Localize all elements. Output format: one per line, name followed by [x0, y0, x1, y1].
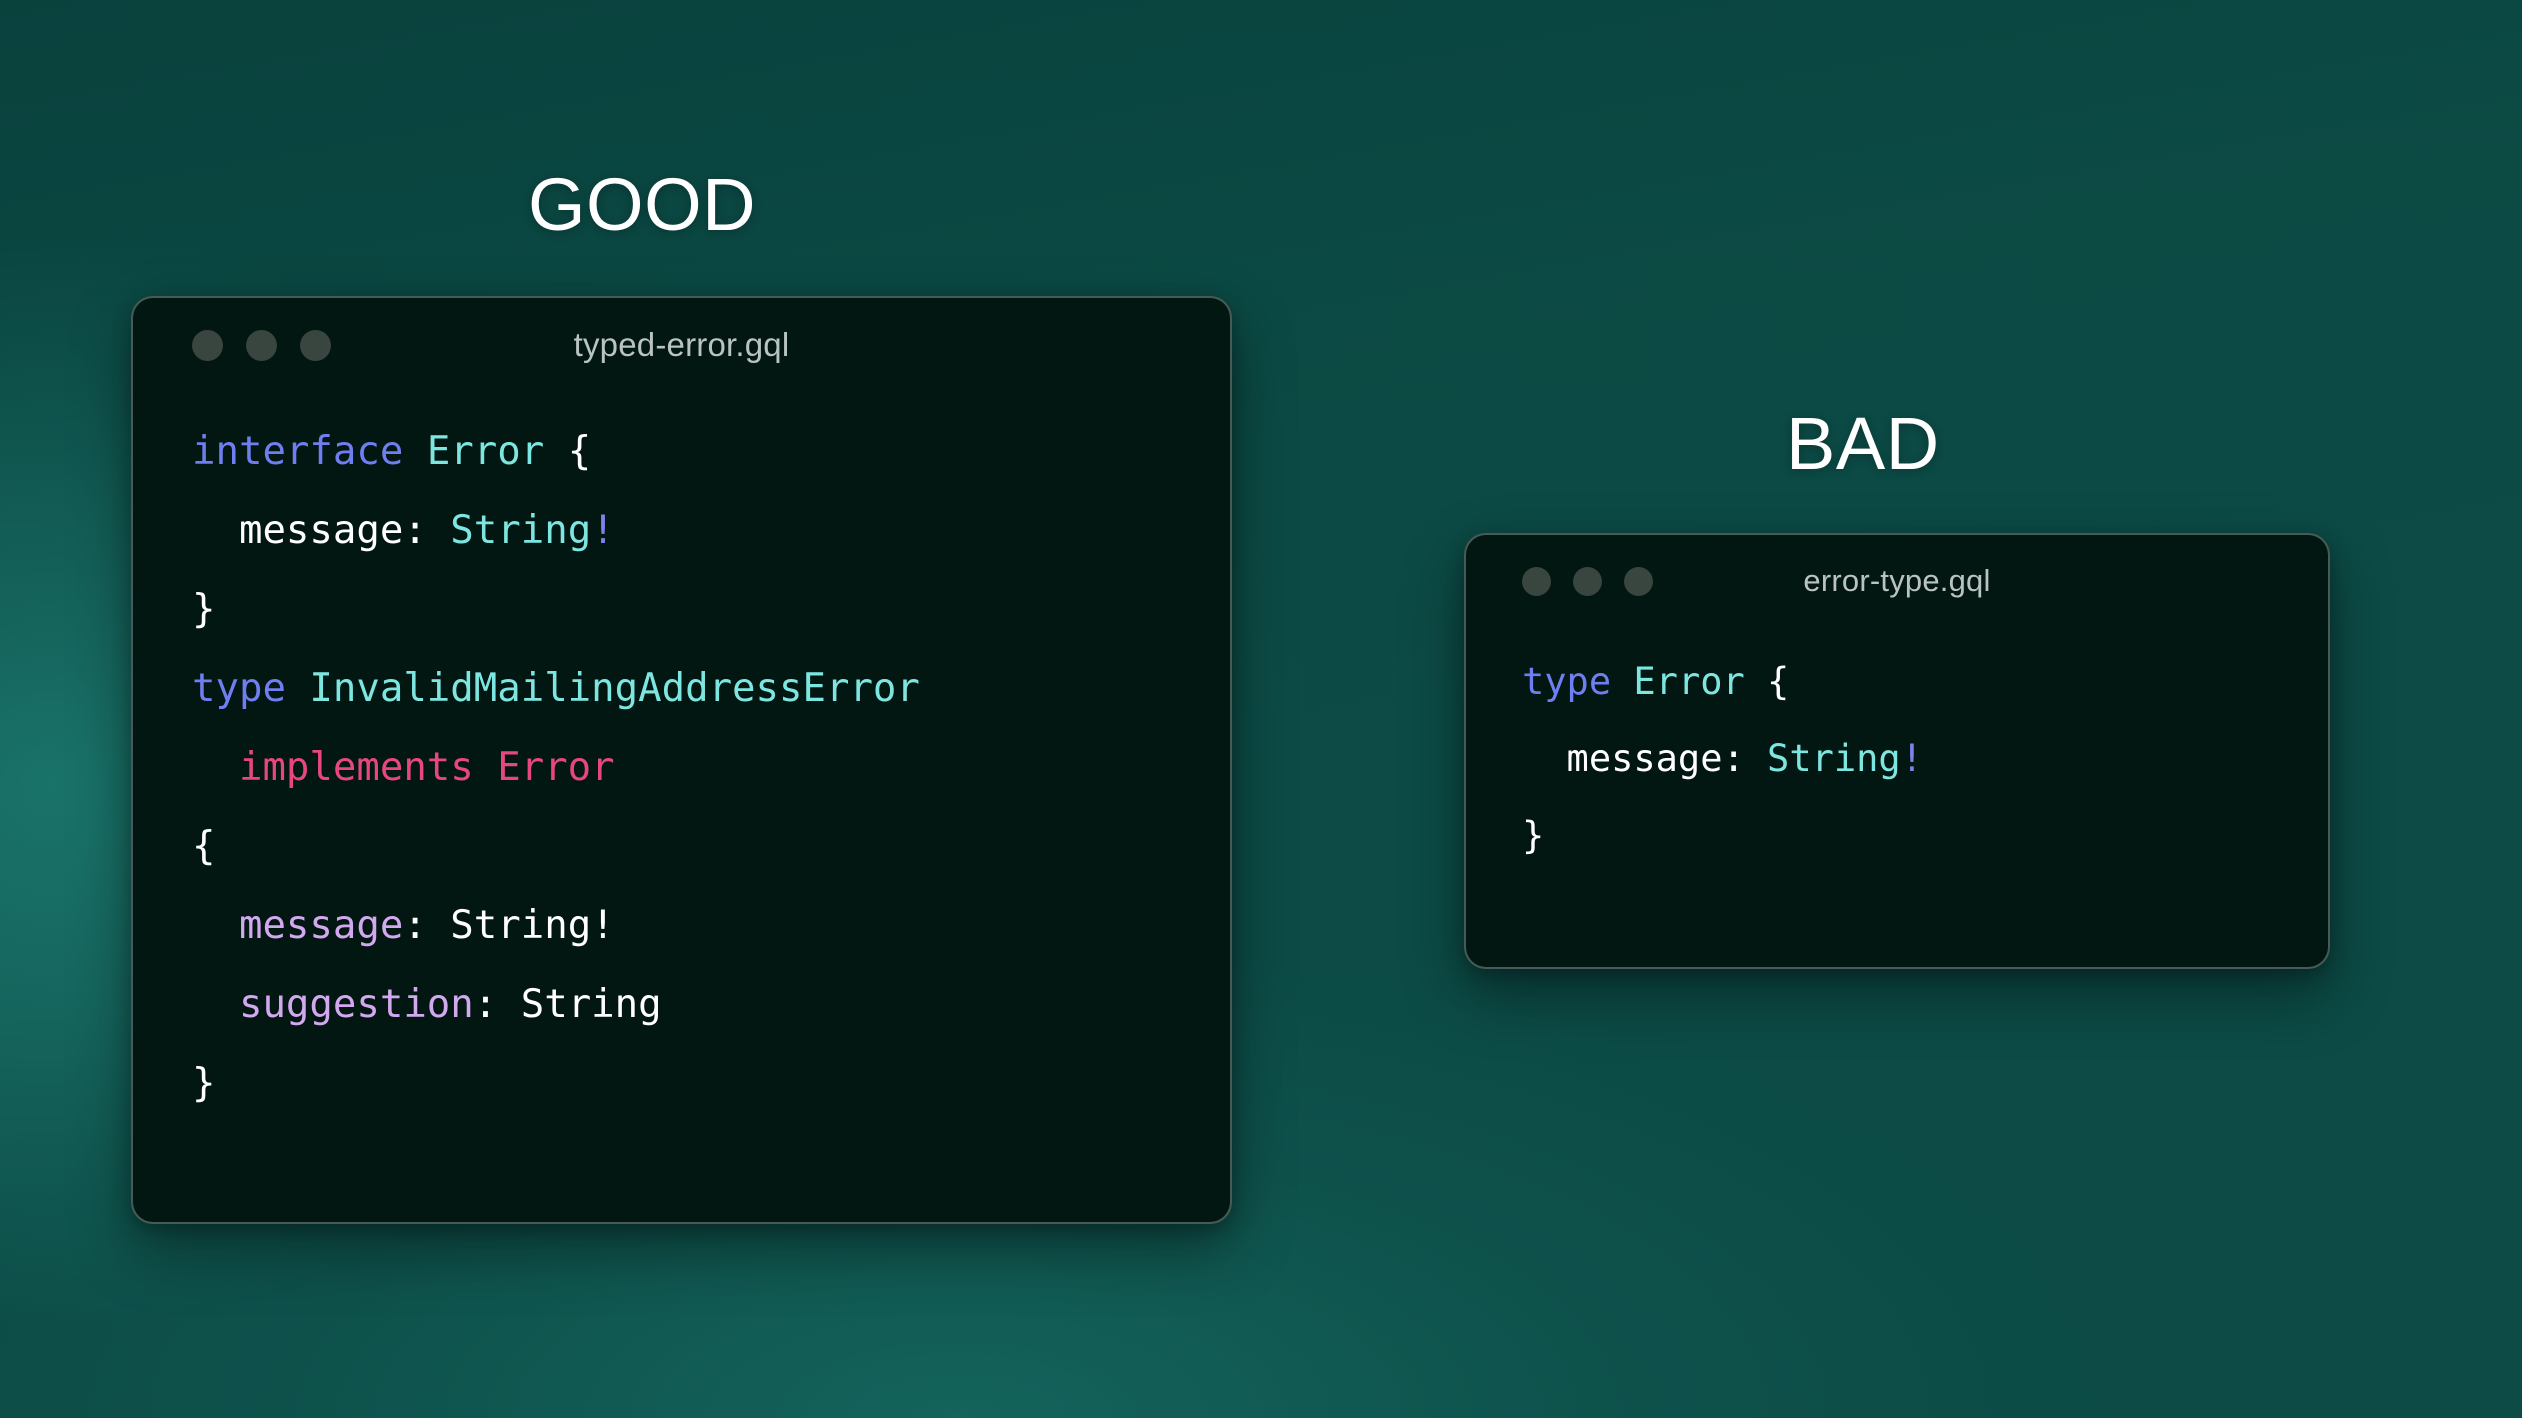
code-token-punctuation: } [1522, 814, 1544, 857]
code-token-punctuation: : [403, 508, 450, 553]
code-token-scalar-type: String! [450, 903, 614, 948]
traffic-light-dot-close[interactable] [1522, 567, 1551, 596]
code-token-punctuation: { [568, 429, 591, 474]
code-token-type-name: Error [1633, 660, 1767, 703]
code-token-type-name: InvalidMailingAddressError [309, 666, 919, 711]
traffic-light-dots [1522, 567, 1653, 596]
code-token-punctuation: } [192, 1061, 215, 1106]
code-line: } [1522, 797, 2328, 874]
code-line: { [192, 807, 1230, 886]
code-token-non-null: ! [1901, 737, 1923, 780]
code-token-field-name: message [192, 903, 403, 948]
code-window-good: typed-error.gql interface Error { messag… [131, 296, 1232, 1224]
code-line: type Error { [1522, 643, 2328, 720]
code-token-scalar-type: String [450, 508, 591, 553]
code-content-bad: type Error { message: String!} [1466, 627, 2328, 874]
code-token-punctuation: : [474, 982, 521, 1027]
code-window-bad: error-type.gql type Error { message: Str… [1464, 533, 2330, 969]
code-token-scalar-type: String [1767, 737, 1901, 780]
window-titlebar: typed-error.gql [133, 298, 1230, 392]
code-token-punctuation: } [192, 587, 215, 632]
code-line: type InvalidMailingAddressError [192, 649, 1230, 728]
code-token-implements-clause: implements Error [192, 745, 615, 790]
code-token-scalar-type: String [521, 982, 662, 1027]
code-line: message: String! [1522, 720, 2328, 797]
heading-good: GOOD [528, 168, 756, 242]
code-token-punctuation: : [1722, 737, 1767, 780]
code-line: message: String! [192, 886, 1230, 965]
code-token-field-name: suggestion [192, 982, 474, 1027]
code-token-keyword: type [192, 666, 309, 711]
code-line: interface Error { [192, 412, 1230, 491]
code-token-field-name: message [1522, 737, 1722, 780]
traffic-light-dot-maximize[interactable] [1624, 567, 1653, 596]
code-token-type-name: Error [427, 429, 568, 474]
code-token-keyword: type [1522, 660, 1633, 703]
code-token-punctuation: { [1767, 660, 1789, 703]
traffic-light-dot-maximize[interactable] [300, 330, 331, 361]
code-line: } [192, 1044, 1230, 1123]
traffic-light-dot-minimize[interactable] [246, 330, 277, 361]
code-token-keyword: interface [192, 429, 427, 474]
window-titlebar: error-type.gql [1466, 535, 2328, 627]
code-token-field-name: message [192, 508, 403, 553]
code-line: } [192, 570, 1230, 649]
code-line: suggestion: String [192, 965, 1230, 1044]
code-line: message: String! [192, 491, 1230, 570]
traffic-light-dots [192, 330, 331, 361]
heading-bad: BAD [1786, 407, 1940, 481]
code-line: implements Error [192, 728, 1230, 807]
traffic-light-dot-close[interactable] [192, 330, 223, 361]
code-token-punctuation: : [403, 903, 450, 948]
code-token-non-null: ! [591, 508, 614, 553]
traffic-light-dot-minimize[interactable] [1573, 567, 1602, 596]
code-token-punctuation: { [192, 824, 215, 869]
code-content-good: interface Error { message: String!}type … [133, 392, 1230, 1123]
